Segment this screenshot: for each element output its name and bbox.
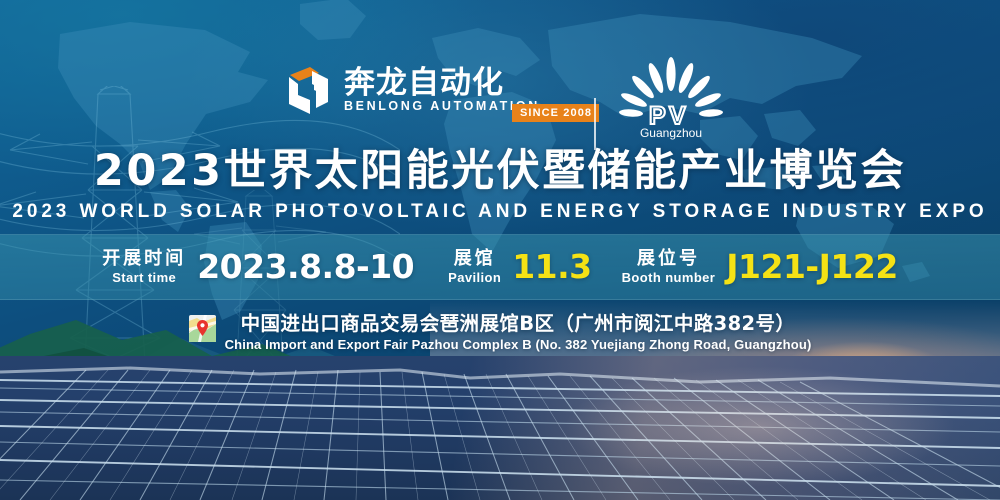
info-label: 开展时间 Start time — [102, 250, 186, 284]
benlong-name-en: BENLONG AUTOMATION — [344, 100, 540, 113]
benlong-logo: 奔龙自动化 BENLONG AUTOMATION — [283, 62, 540, 118]
info-booth-number: 展位号 Booth number J121-J122 — [622, 250, 898, 284]
benlong-name-cn: 奔龙自动化 — [344, 67, 540, 99]
map-pin-icon — [189, 315, 216, 342]
benlong-cube-logo-icon — [283, 62, 335, 118]
venue-address: 中国进出口商品交易会琶洲展馆B区（广州市阅江中路382号） China Impo… — [0, 312, 1000, 354]
address-text: 中国进出口商品交易会琶洲展馆B区（广州市阅江中路382号） China Impo… — [225, 312, 812, 354]
address-en: China Import and Export Fair Pazhou Comp… — [225, 336, 812, 354]
page-title-cn: 2023世界太阳能光伏暨储能产业博览会 — [0, 146, 1000, 196]
info-start-time: 开展时间 Start time 2023.8.8-10 — [102, 250, 414, 284]
since-badge: SINCE 2008 — [512, 104, 599, 122]
info-value: 2023.8.8-10 — [197, 250, 414, 284]
solar-panel-array — [0, 356, 1000, 500]
info-value: J121-J122 — [726, 250, 898, 284]
info-label-en: Booth number — [622, 271, 716, 284]
logo-row: 奔龙自动化 BENLONG AUTOMATION SINCE 2008 — [0, 58, 1000, 138]
info-value: 11.3 — [512, 250, 591, 284]
address-cn: 中国进出口商品交易会琶洲展馆B区（广州市阅江中路382号） — [241, 312, 796, 336]
panel-sun-reflection — [520, 366, 1000, 500]
info-label-cn: 开展时间 — [102, 250, 186, 268]
info-label-en: Pavilion — [448, 271, 501, 284]
pv-guangzhou-logo: P V Guangzhou — [612, 56, 730, 140]
page-title-en: 2023 WORLD SOLAR PHOTOVOLTAIC AND ENERGY… — [0, 200, 1000, 224]
info-label-en: Start time — [112, 271, 176, 284]
info-row: 开展时间 Start time 2023.8.8-10 展馆 Pavilion … — [0, 234, 1000, 300]
info-label-cn: 展位号 — [637, 250, 700, 268]
info-label: 展位号 Booth number — [622, 250, 716, 284]
expo-promo-banner: 奔龙自动化 BENLONG AUTOMATION SINCE 2008 — [0, 0, 1000, 500]
info-label: 展馆 Pavilion — [448, 250, 501, 284]
info-pavilion: 展馆 Pavilion 11.3 — [448, 250, 591, 284]
pv-city-label: Guangzhou — [640, 126, 702, 140]
info-label-cn: 展馆 — [454, 250, 496, 268]
logo-divider — [594, 98, 596, 150]
